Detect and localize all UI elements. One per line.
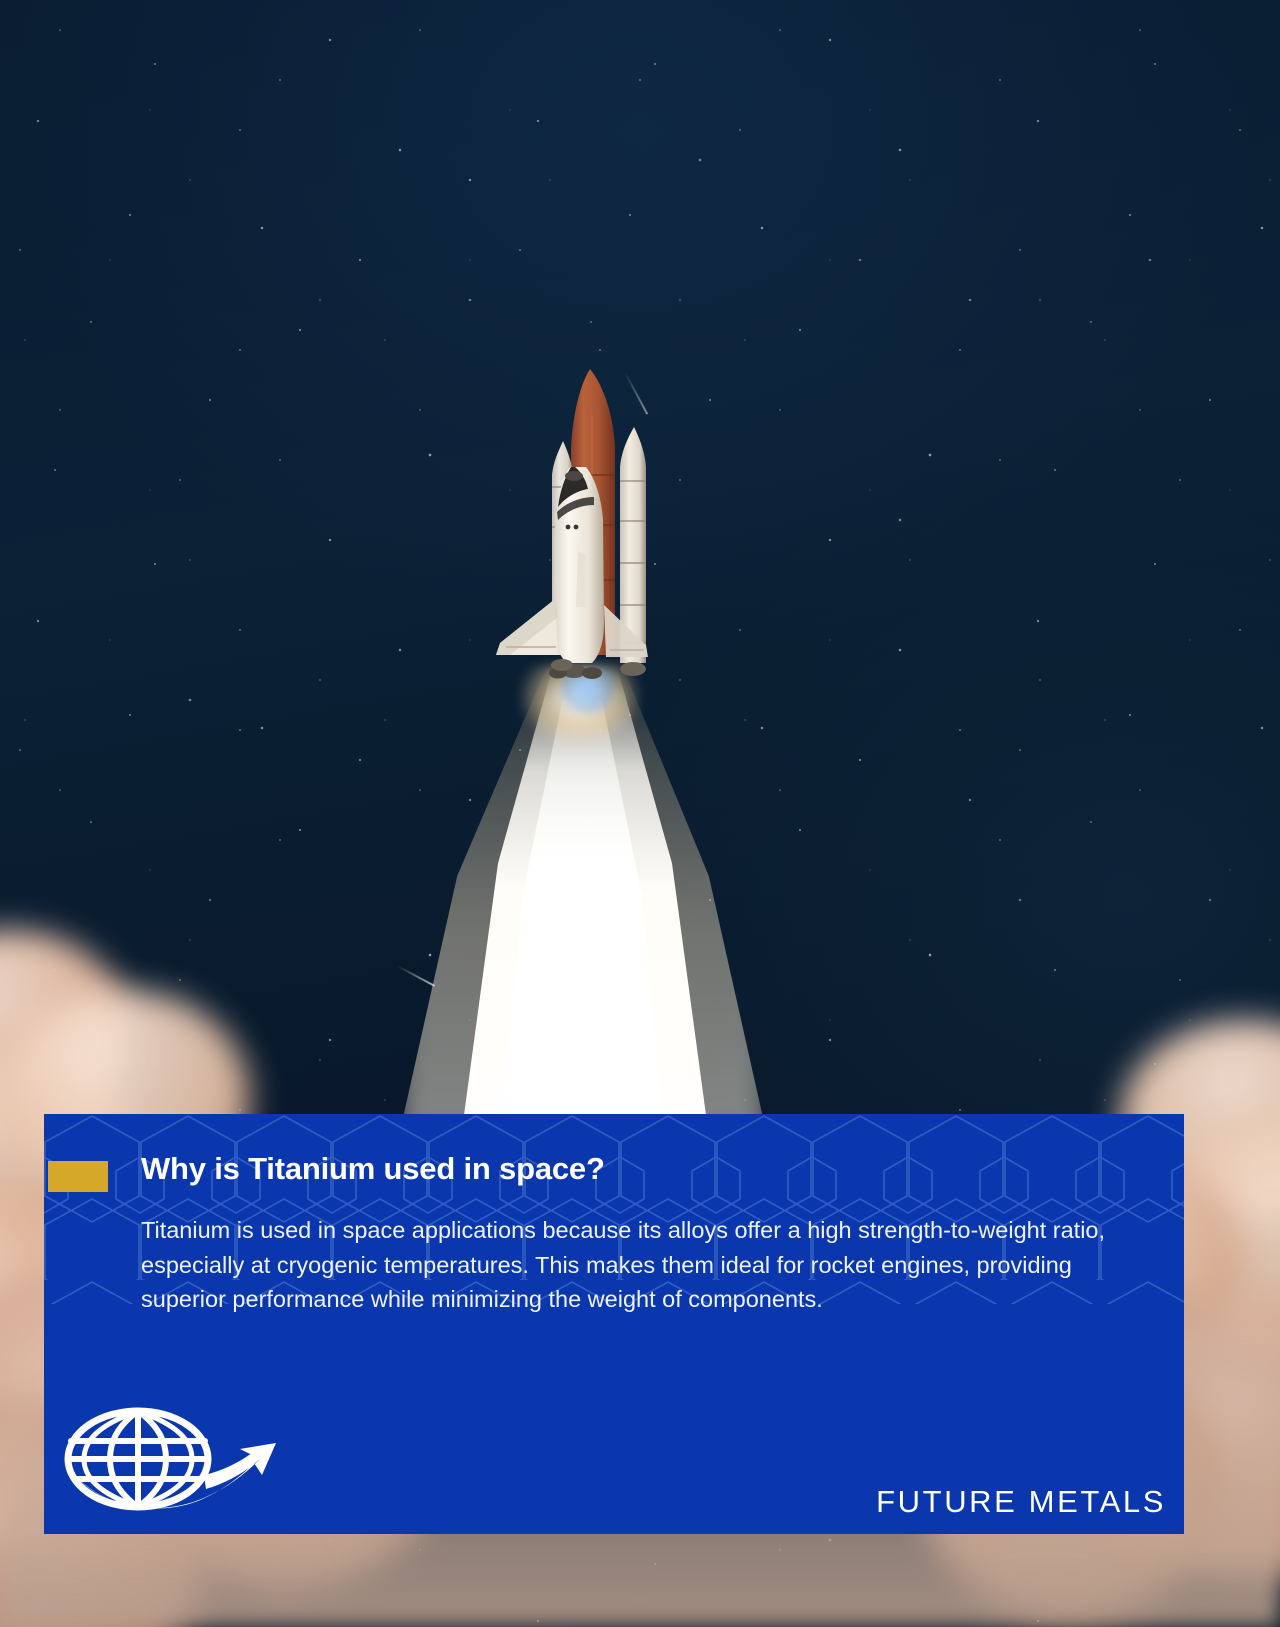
brand-wordmark: FUTURE METALS xyxy=(876,1484,1166,1520)
info-panel: Why is Titanium used in space? Titanium … xyxy=(44,1114,1184,1534)
gold-accent-bar xyxy=(48,1161,108,1192)
space-shuttle-icon xyxy=(470,355,690,715)
panel-body-text: Titanium is used in space applications b… xyxy=(141,1213,1153,1317)
panel-title-row: Why is Titanium used in space? xyxy=(44,1155,1184,1199)
globe-arrow-icon xyxy=(54,1401,278,1519)
poster-root: Why is Titanium used in space? Titanium … xyxy=(0,0,1280,1627)
page-title: Why is Titanium used in space? xyxy=(141,1151,605,1187)
